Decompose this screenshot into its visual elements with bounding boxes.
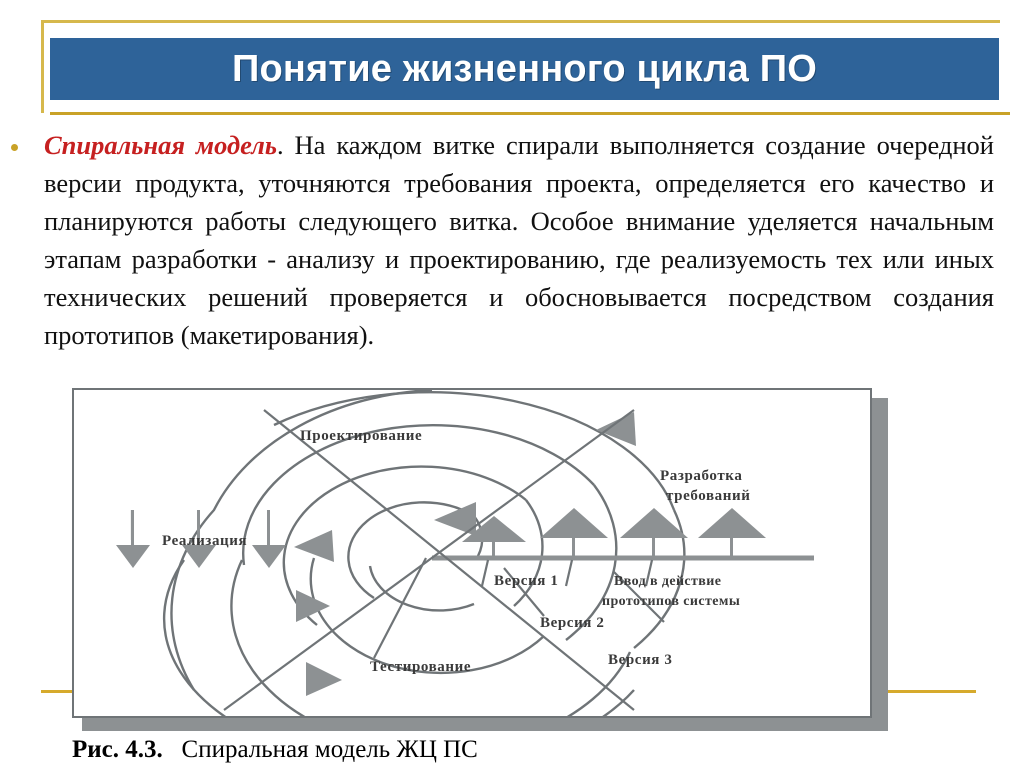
label-implementation: Реализация [162,533,247,549]
gold-frame-top-line [41,20,1000,23]
arrow-third-top [294,530,334,562]
page-title: Понятие жизненного цикла ПО [232,48,817,91]
body-paragraph: Спиральная модель. На каждом витке спира… [44,126,994,354]
label-version-3: Версия 3 [608,652,672,668]
paragraph-text: . На каждом витке спирали выполняется со… [44,130,994,350]
label-version-2: Версия 2 [540,615,604,631]
radial-tick-v2 [566,560,572,586]
gold-frame-middle-line [50,112,1010,115]
label-version-1: Версия 1 [494,573,558,589]
gold-frame-left-line [41,20,44,113]
figure-caption-number: Рис. 4.3. [72,736,163,763]
spiral-arc-lower-inner [370,566,474,610]
label-deploy-1: Ввод в действие [614,574,721,589]
figure-caption-text: Спиральная модель ЖЦ ПС [182,736,478,763]
slide-title-bar: Понятие жизненного цикла ПО [50,38,999,100]
spiral-arc-third-right [514,500,542,606]
arrow-testing-outer [306,662,342,696]
radial-tick-v1 [482,560,488,586]
label-design: Проектирование [300,428,422,444]
label-requirements-2: требований [666,488,751,504]
label-requirements-1: Разработка [660,468,742,484]
arrow-group-up [462,508,766,558]
spiral-diagram-svg: .sp { fill:none; stroke:#6f7477; stroke-… [74,390,870,716]
body-text-block: Спиральная модель. На каждом витке спира… [44,126,994,354]
label-deploy-2: прототипов системы [602,594,740,609]
label-testing: Тестирование [370,659,471,675]
bullet-point-icon [11,144,18,151]
figure-caption: Рис. 4.3. Спиральная модель ЖЦ ПС [72,736,478,764]
lead-term: Спиральная модель [44,130,277,160]
spiral-model-figure: .sp { fill:none; stroke:#6f7477; stroke-… [72,388,872,718]
